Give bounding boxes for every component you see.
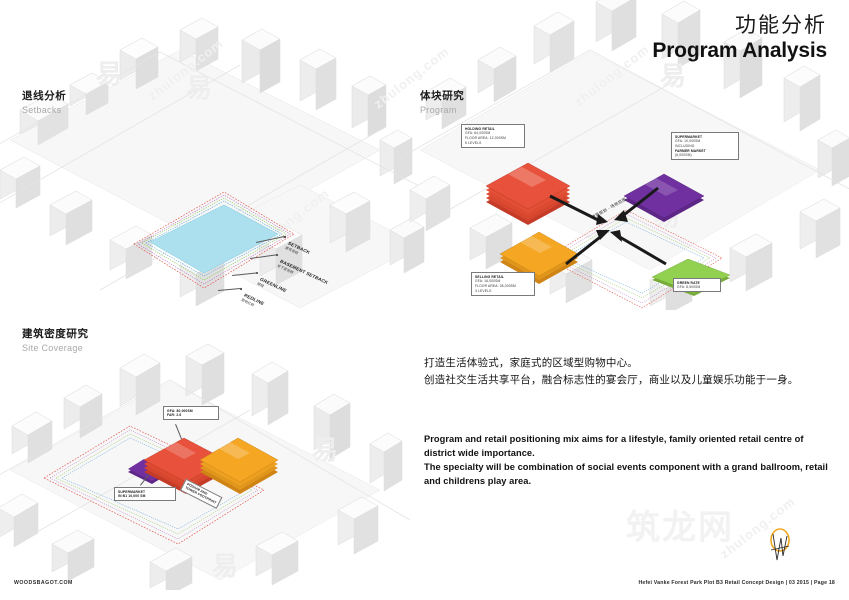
callout-selling-retail: SELLING RETAIL GFA: 16,000SM FLOOR AREA:… bbox=[471, 272, 535, 296]
setback-site-plate bbox=[128, 186, 300, 294]
section-header-coverage-cn: 建筑密度研究 bbox=[22, 328, 89, 342]
body-en-paragraph-2: The specialty will be combination of soc… bbox=[424, 460, 829, 488]
section-header-coverage-en: Site Coverage bbox=[22, 343, 89, 355]
watermark-yi: 易 bbox=[312, 430, 338, 467]
callout-holding-retail: HOLDING RETAIL GFA: 64,000SM FLOOR AREA:… bbox=[461, 124, 525, 148]
slide-title: 功能分析 Program Analysis bbox=[652, 14, 827, 63]
section-header-setbacks-en: Setbacks bbox=[22, 105, 66, 117]
footer-website[interactable]: WOODSBAGOT.COM bbox=[14, 580, 73, 586]
section-header-program-cn: 体块研究 bbox=[420, 90, 464, 104]
section-header-program-en: Program bbox=[420, 105, 464, 117]
section-header-setbacks: 退线分析 Setbacks bbox=[22, 90, 66, 116]
setback-label-redline: REDLINE 用地红线 bbox=[240, 293, 265, 311]
coverage-block-selling bbox=[196, 434, 282, 494]
callout-supermarket-b1: SUPERMARKET IN B1 10,000 SM bbox=[114, 487, 176, 501]
body-en-paragraph-1: Program and retail positioning mix aims … bbox=[424, 432, 829, 460]
signature-stamp bbox=[757, 526, 801, 568]
watermark-url: zhulong.com bbox=[571, 42, 652, 110]
watermark-yi: 易 bbox=[186, 68, 212, 105]
section-header-setbacks-cn: 退线分析 bbox=[22, 90, 66, 104]
callout-far: GFA: 80,000SM FAR: 2.6 bbox=[163, 406, 219, 420]
watermark-yi: 易 bbox=[96, 54, 122, 91]
watermark-url: zhulong.com bbox=[145, 36, 226, 104]
body-cn-line-1: 打造生活体验式，家庭式的区域型购物中心。 bbox=[424, 355, 824, 372]
body-text-cn: 打造生活体验式，家庭式的区域型购物中心。 创造社交生活共享平台，融合标志性的宴会… bbox=[424, 355, 824, 389]
slide-title-cn: 功能分析 bbox=[652, 14, 827, 38]
body-text-en: Program and retail positioning mix aims … bbox=[424, 432, 829, 489]
callout-supermarket: SUPERMARKET GFA: 10,000SM INCLUDING FARM… bbox=[671, 132, 739, 160]
footer-project-info: Hefei Vanke Forest Park Plot B3 Retail C… bbox=[638, 580, 835, 586]
section-header-coverage: 建筑密度研究 Site Coverage bbox=[22, 328, 89, 354]
program-arrow-green-rate bbox=[604, 224, 670, 270]
body-cn-line-2: 创造社交生活共享平台，融合标志性的宴会厅，商业以及儿童娱乐功能于一身。 bbox=[424, 372, 824, 389]
slide-title-en: Program Analysis bbox=[652, 39, 827, 63]
slide-canvas: 易 易 易 易 易 易 zhulong.com zhulong.com zhul… bbox=[0, 0, 849, 600]
section-header-program: 体块研究 Program bbox=[420, 90, 464, 116]
watermark-brand: 筑龙网 bbox=[626, 500, 734, 549]
callout-green-rate: GREEN RATE GFA: 8,500SM bbox=[673, 278, 721, 292]
